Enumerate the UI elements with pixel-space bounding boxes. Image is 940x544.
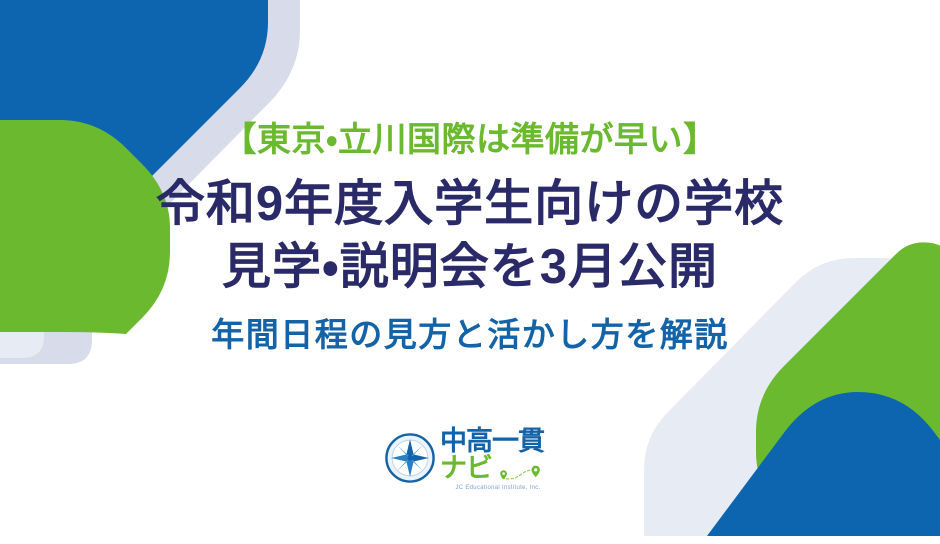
hero-headline-line-2: 見学・説明会を3月公開 [156,236,784,299]
hero-headline: 令和9年度入学生向けの学校 見学・説明会を3月公開 [156,173,784,298]
logo-wordmark-row-2: ナビ [440,455,556,482]
logo-tagline: JC Educational Institute, Inc. [455,485,540,491]
logo-wordmark-line-2: ナビ [440,455,492,482]
brand-logo: 中高一貫 ナビ JC Educational Institute, Inc. [384,428,556,491]
logo-wordmark: 中高一貫 ナビ JC Educational Institute, Inc. [440,428,556,491]
map-route-pins-icon [494,458,556,484]
hero-eyebrow: 【東京・立川国際は準備が早い】 [222,122,717,159]
thumbnail-card: 【東京・立川国際は準備が早い】 令和9年度入学生向けの学校 見学・説明会を3月公… [0,0,940,544]
compass-star-icon [384,432,436,484]
hero-subline: 年間日程の見方と活かし方を解説 [211,317,729,353]
logo-wordmark-line-1: 中高一貫 [440,428,544,455]
hero-headline-line-1: 令和9年度入学生向けの学校 [156,177,784,231]
